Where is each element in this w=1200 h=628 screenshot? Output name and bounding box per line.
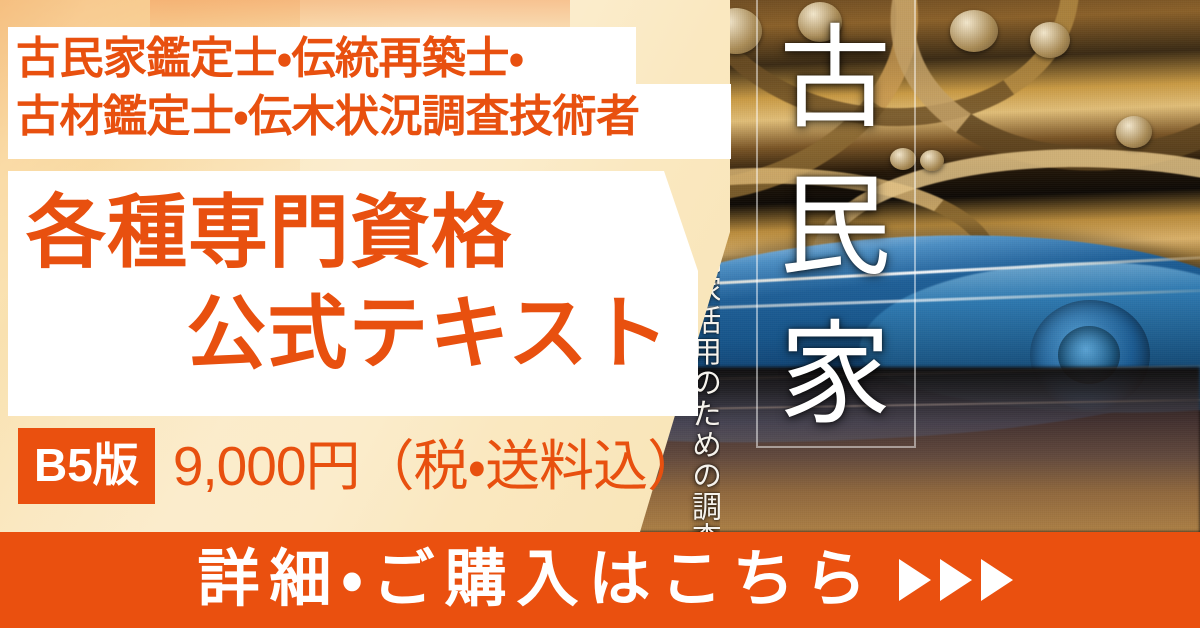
cta-button[interactable]: 詳細・ご購入はこちら (0, 532, 1200, 628)
triangle-right-icon (981, 559, 1013, 601)
triangle-right-icon (940, 559, 972, 601)
main-title-line1: 各種専門資格 (18, 183, 688, 284)
carving-knob (1116, 116, 1152, 148)
cta-label: 詳細・ご購入はこちら (187, 549, 876, 611)
price-text: 9,000円（税・送料込） (173, 439, 701, 494)
carving-knob (950, 10, 998, 52)
cta-arrows (899, 559, 1013, 601)
triangle-right-icon (899, 559, 931, 601)
promo-banner: 古 民 家 伝統構法 古民家活用のための調査と再生の 古民家鑑定士・伝統再築士・… (0, 0, 1200, 628)
carving-knob (920, 150, 944, 171)
cover-title-text: 古 民 家 (774, 6, 896, 449)
main-title: 各種専門資格 公式テキスト (18, 183, 688, 385)
carving-knob (1030, 22, 1070, 58)
main-title-line2: 公式テキスト (18, 284, 688, 385)
price-row: B5版 9,000円（税・送料込） (18, 428, 701, 504)
qualifications-text: 古民家鑑定士・伝統再築士・ 古材鑑定士・伝木状況調査技術者 (16, 30, 716, 146)
format-badge: B5版 (18, 428, 155, 504)
